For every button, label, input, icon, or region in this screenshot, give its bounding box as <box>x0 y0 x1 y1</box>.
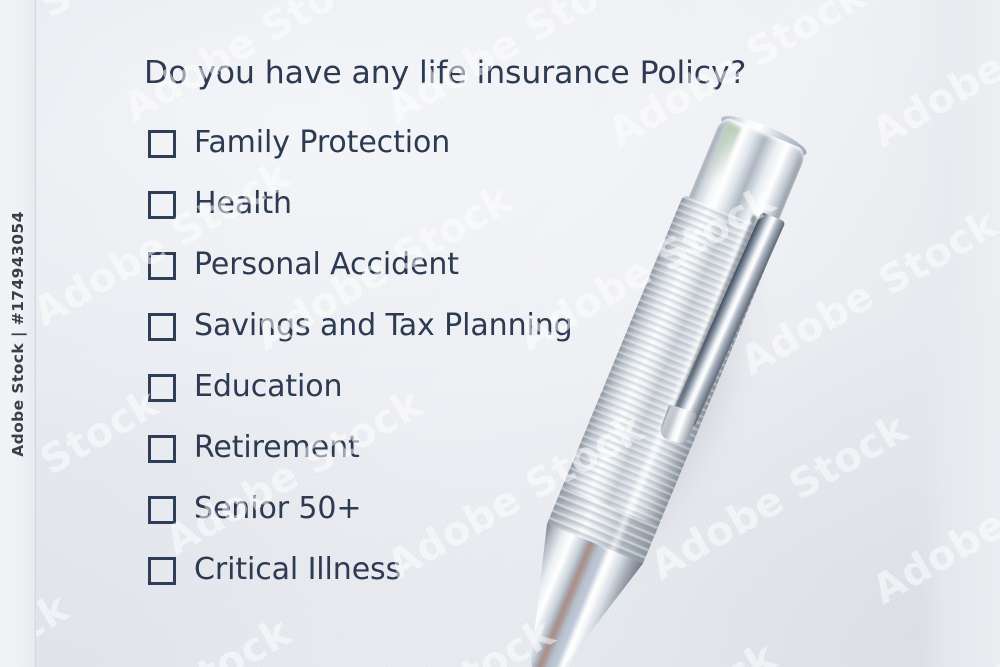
checkbox-option-list: Family ProtectionHealthPersonal Accident… <box>148 112 848 600</box>
checkbox-option[interactable]: Education <box>148 356 848 417</box>
paper-edge-left <box>0 0 36 667</box>
checkbox-icon[interactable] <box>148 313 176 341</box>
checkbox-option[interactable]: Retirement <box>148 417 848 478</box>
checkbox-option-label: Critical Illness <box>194 553 401 587</box>
checkbox-icon[interactable] <box>148 496 176 524</box>
printed-questionnaire: Do you have any life insurance Policy? F… <box>0 0 1000 667</box>
checkbox-option-label: Savings and Tax Planning <box>194 309 573 343</box>
checkbox-option[interactable]: Senior 50+ <box>148 478 848 539</box>
checkbox-option[interactable]: Personal Accident <box>148 234 848 295</box>
checkbox-option[interactable]: Savings and Tax Planning <box>148 295 848 356</box>
checkbox-option-label: Senior 50+ <box>194 492 361 526</box>
checkbox-icon[interactable] <box>148 252 176 280</box>
question-heading: Do you have any life insurance Policy? <box>144 54 746 92</box>
checkbox-icon[interactable] <box>148 557 176 585</box>
checkbox-icon[interactable] <box>148 435 176 463</box>
checkbox-icon[interactable] <box>148 374 176 402</box>
checkbox-option-label: Education <box>194 370 342 404</box>
checkbox-option-label: Retirement <box>194 431 360 465</box>
checkbox-option-label: Personal Accident <box>194 248 459 282</box>
checkbox-icon[interactable] <box>148 191 176 219</box>
checkbox-option-label: Family Protection <box>194 126 450 160</box>
checkbox-option[interactable]: Health <box>148 173 848 234</box>
checkbox-icon[interactable] <box>148 130 176 158</box>
stock-photo-canvas: Do you have any life insurance Policy? F… <box>0 0 1000 667</box>
checkbox-option[interactable]: Family Protection <box>148 112 848 173</box>
checkbox-option[interactable]: Critical Illness <box>148 539 848 600</box>
checkbox-option-label: Health <box>194 187 292 221</box>
